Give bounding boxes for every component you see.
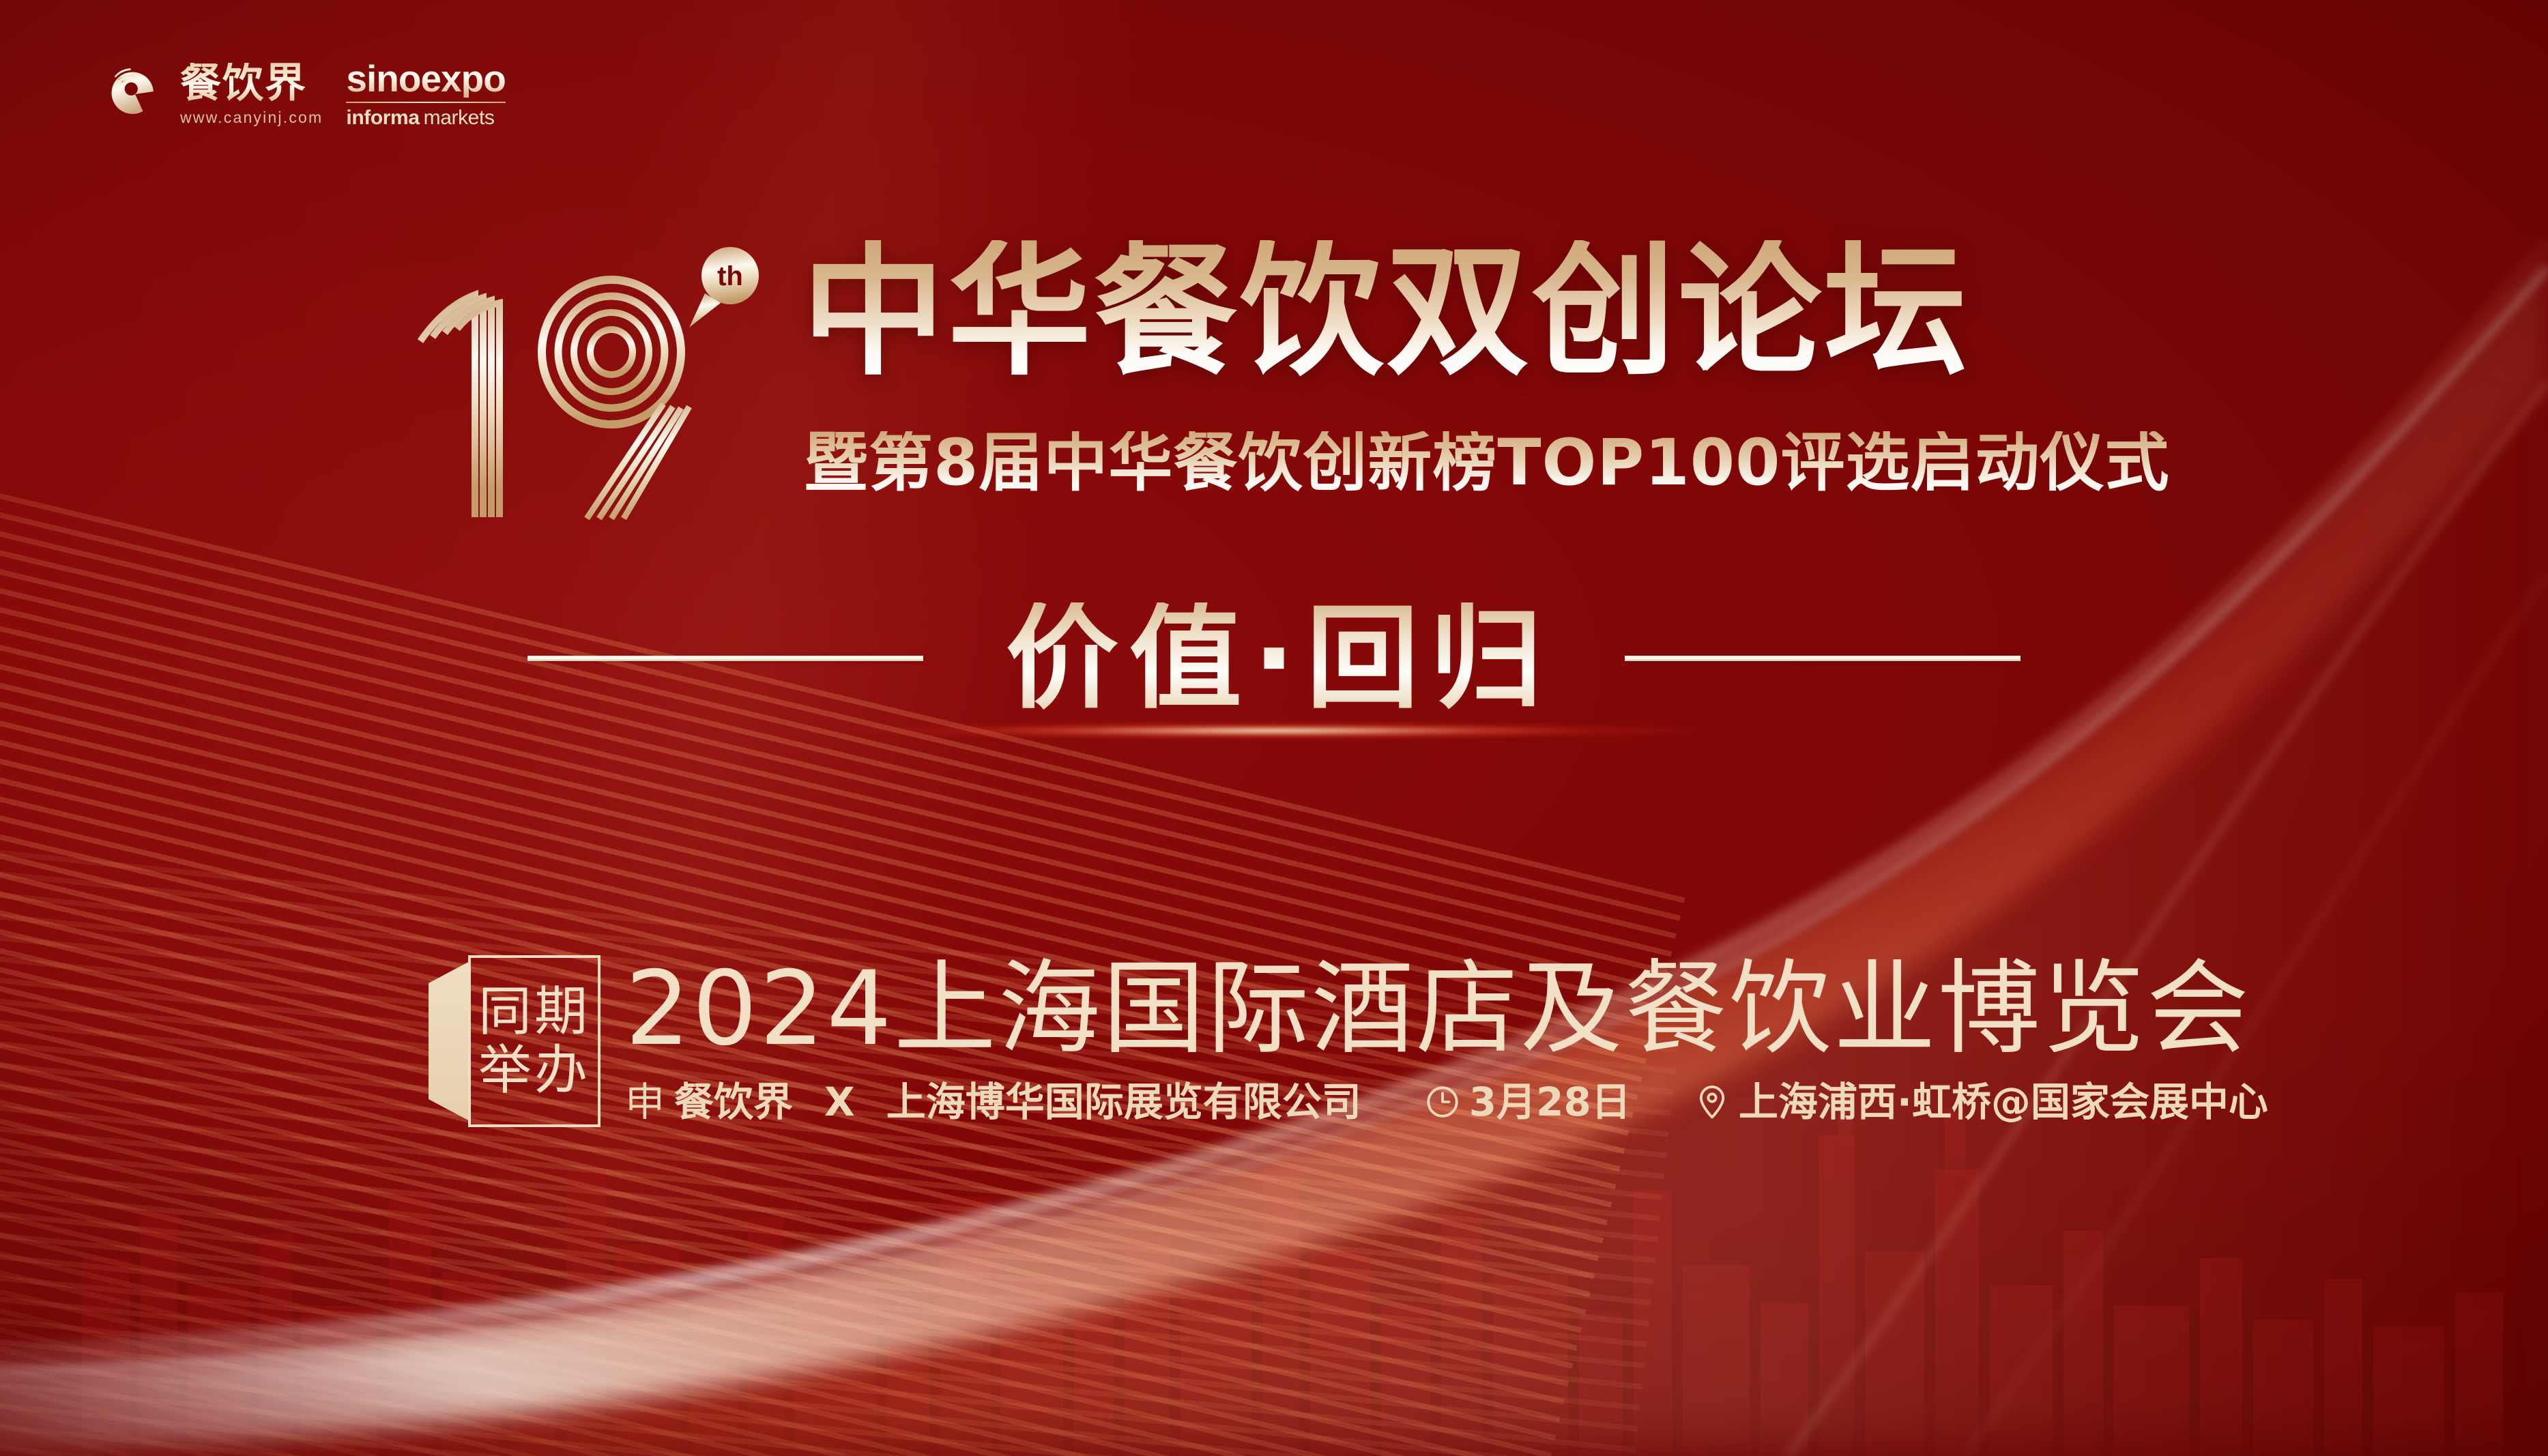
slogan-rule-right (1625, 656, 2021, 661)
brand-bar: 餐饮界 www.canyinj.com sinoexpo informa mar… (102, 60, 506, 128)
co-organizer-segment: 上海博华国际展览有限公司 (886, 1082, 1361, 1122)
slogan-rule-left (527, 656, 923, 661)
informa-word: informa (346, 108, 419, 128)
markets-word: markets (424, 108, 495, 128)
date-segment: 3月28日 (1424, 1082, 1631, 1122)
sinoexpo-divider (346, 102, 505, 103)
organizer-segment: 申 餐饮界 (625, 1082, 793, 1122)
canyinjie-logo-mark-icon (102, 61, 168, 127)
footer-block: 同期 举办 2024上海国际酒店及餐饮业博览会 申 餐饮界 X 上海博华国际展览… (429, 955, 2268, 1127)
shen-icon: 申 (625, 1082, 665, 1122)
map-pin-icon (1694, 1083, 1731, 1120)
event-banner: 餐饮界 www.canyinj.com sinoexpo informa mar… (0, 0, 2548, 1456)
clock-icon (1424, 1083, 1461, 1120)
organizer-name: 餐饮界 (674, 1082, 793, 1122)
footer-text-column: 2024上海国际酒店及餐饮业博览会 申 餐饮界 X 上海博华国际展览有限公司 (625, 955, 2268, 1122)
sinoexpo-wordmark: sinoexpo (346, 60, 505, 98)
venue-segment: 上海浦西·虹桥@国家会展中心 (1694, 1082, 2268, 1122)
canyinjie-logo[interactable]: 餐饮界 www.canyinj.com (102, 61, 323, 127)
co-organizer-name: 上海博华国际展览有限公司 (886, 1082, 1361, 1122)
informa-markets-lockup: informa markets (346, 108, 505, 128)
svg-text:th: th (717, 261, 743, 291)
slogan-text: 价值·回归 (995, 602, 1554, 715)
canyinjie-url: www.canyinj.com (180, 110, 323, 126)
badge-line-2: 举办 (478, 1044, 590, 1097)
badge-line-1: 同期 (478, 985, 590, 1038)
cross-label: X (824, 1082, 855, 1122)
cross-symbol: X (824, 1082, 855, 1122)
event-date: 3月28日 (1469, 1082, 1631, 1122)
event-venue: 上海浦西·虹桥@国家会展中心 (1739, 1082, 2268, 1122)
nineteenth-anniversary-emblem: th (394, 237, 790, 544)
event-meta-line: 申 餐饮界 X 上海博华国际展览有限公司 (625, 1082, 2268, 1122)
expo-title: 2024上海国际酒店及餐饮业博览会 (625, 958, 2268, 1060)
badge-frame: 同期 举办 (468, 955, 600, 1127)
ordinal-bubble: th (689, 247, 759, 327)
slogan-band: 价值·回归 (0, 559, 2548, 757)
sinoexpo-logo[interactable]: sinoexpo informa markets (346, 60, 505, 128)
page-subtitle: 暨第8届中华餐饮创新榜TOP100评选启动仪式 (804, 431, 2170, 495)
concurrent-event-badge: 同期 举办 (429, 955, 600, 1127)
badge-flag-shape (429, 961, 471, 1122)
page-title: 中华餐饮双创论坛 (802, 240, 1970, 383)
canyinjie-name: 餐饮界 (180, 63, 323, 104)
